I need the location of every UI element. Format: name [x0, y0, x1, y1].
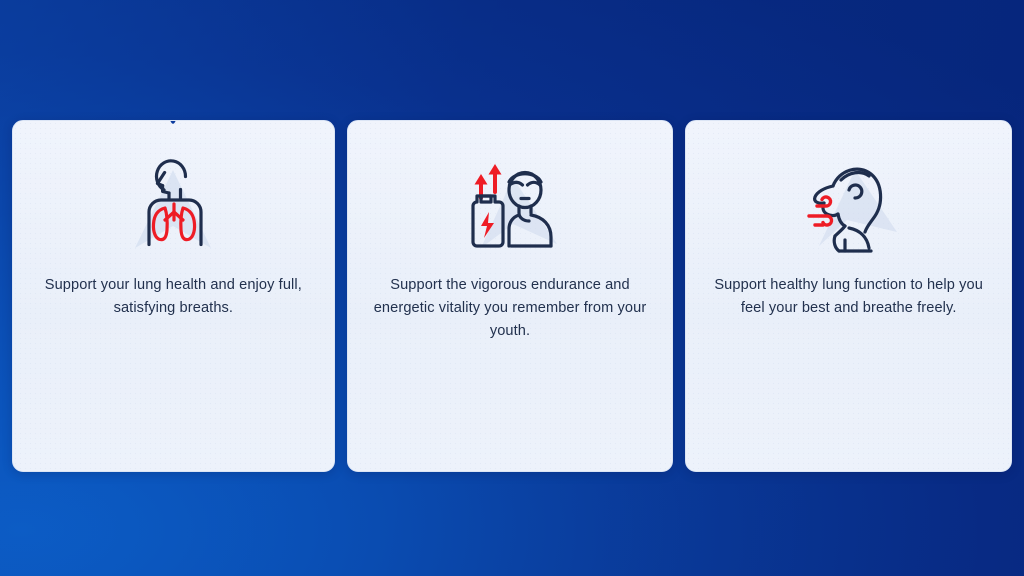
benefit-card-text: Support your lung health and enjoy full,… — [37, 274, 309, 320]
person-lungs-icon — [119, 150, 227, 258]
benefit-card-text: Support the vigorous endurance and energ… — [365, 274, 655, 343]
benefit-card-energy-vitality[interactable]: Support the vigorous endurance and energ… — [347, 120, 674, 472]
card-notch — [165, 120, 181, 128]
person-breathing-icon — [793, 150, 905, 258]
person-battery-energy-icon — [451, 150, 569, 258]
benefit-card-text: Support healthy lung function to help yo… — [705, 274, 993, 320]
page-background: Support your lung health and enjoy full,… — [0, 0, 1024, 576]
benefit-cards-row: Support your lung health and enjoy full,… — [12, 120, 1012, 472]
benefit-card-lung-health[interactable]: Support your lung health and enjoy full,… — [12, 120, 335, 472]
benefit-card-breathe-freely[interactable]: Support healthy lung function to help yo… — [685, 120, 1012, 472]
